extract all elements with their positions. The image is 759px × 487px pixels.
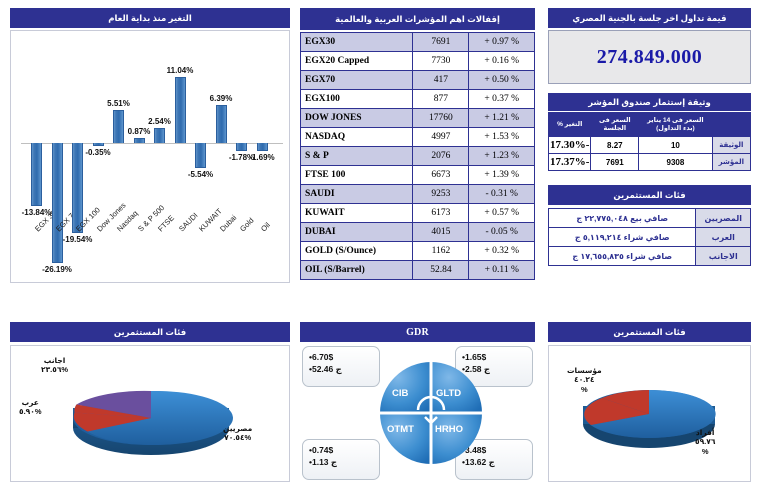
pie-left-label-foreign-pct: %٢٣.٥٦ bbox=[41, 365, 68, 374]
investor-nationality-pie-chart: اجانب %٢٣.٥٦ عرب %٥.٩٠ مصريين %٧٠.٥٤ bbox=[10, 345, 290, 482]
bar bbox=[52, 143, 63, 263]
pie-right-label-individuals-pct: ٥٩.٧٦ bbox=[695, 437, 715, 446]
investor-category-label: المصريين bbox=[696, 209, 751, 228]
index-value: 417 bbox=[413, 71, 469, 90]
turnover-value-box: 274.849.000 bbox=[548, 30, 751, 84]
gdr-quadrant-label-gltd: GLTD bbox=[436, 388, 461, 399]
bar-value-label: -26.19% bbox=[42, 265, 72, 274]
pie-left-label-arab-pct: %٥.٩٠ bbox=[19, 407, 42, 416]
etf-change: -17.37% bbox=[549, 154, 591, 171]
bar-value-label: -19.54% bbox=[63, 235, 93, 244]
gdr-box-cib: •6.70$ •52.46 ج bbox=[302, 346, 380, 387]
index-change: + 1.21 % bbox=[469, 109, 535, 128]
index-name: EGX100 bbox=[301, 90, 413, 109]
index-change: + 0.16 % bbox=[469, 52, 535, 71]
index-change: + 0.50 % bbox=[469, 71, 535, 90]
gdr-cib-egp: •52.46 ج bbox=[309, 363, 379, 375]
bar-value-label: 2.54% bbox=[145, 117, 175, 126]
bar-category-label: SAUDI bbox=[177, 211, 200, 234]
ytd-change-chart: -13.84%EGX 30-26.19%EGX 70-19.54%EGX 100… bbox=[10, 30, 290, 283]
table-row: DOW JONES17760+ 1.21 % bbox=[301, 109, 535, 128]
index-value: 1162 bbox=[413, 242, 469, 261]
investor-category-label: الاجانب bbox=[696, 247, 751, 266]
etf-header-start-price: السعر فى 14 يناير (بدء التداول) bbox=[639, 113, 712, 137]
index-value: 6173 bbox=[413, 204, 469, 223]
index-change: + 1.23 % bbox=[469, 147, 535, 166]
gdr-otmt-egp: •1.13 ج bbox=[309, 456, 379, 468]
index-name: SAUDI bbox=[301, 185, 413, 204]
bar bbox=[134, 138, 145, 143]
table-row: EGX100877+ 0.37 % bbox=[301, 90, 535, 109]
bar bbox=[216, 105, 227, 143]
investor-net-value: صافي بيع ٢٢,٧٧٥,٠٤٨ ج bbox=[549, 209, 696, 228]
bar bbox=[175, 77, 186, 143]
pie-left-label-foreign: اجانب %٢٣.٥٦ bbox=[41, 356, 68, 375]
index-value: 52.84 bbox=[413, 261, 469, 280]
pie-right-label-individuals-sym: % bbox=[702, 447, 709, 456]
investor-category-label: العرب bbox=[696, 228, 751, 247]
bar bbox=[236, 143, 247, 151]
index-name: DUBAI bbox=[301, 223, 413, 242]
bar bbox=[195, 143, 206, 168]
bar-value-label: 0.87% bbox=[124, 127, 154, 136]
table-row: NASDAQ4997+ 1.53 % bbox=[301, 128, 535, 147]
index-change: + 0.97 % bbox=[469, 33, 535, 52]
turnover-title: قيمة تداول اخر جلسة بالجنية المصري bbox=[548, 8, 751, 28]
bar-plot-area: -13.84%EGX 30-26.19%EGX 70-19.54%EGX 100… bbox=[17, 35, 285, 278]
bar-category-label: Oil bbox=[259, 221, 272, 234]
bar-category-label: Gold bbox=[238, 216, 256, 234]
bar-value-label: 11.04% bbox=[165, 66, 195, 75]
bar bbox=[31, 143, 42, 206]
index-value: 7691 bbox=[413, 33, 469, 52]
pie-left-label-egyptian-pct: %٧٠.٥٤ bbox=[224, 433, 251, 442]
etf-start-price: 9308 bbox=[639, 154, 712, 171]
gdr-quadrant-label-otmt: OTMT bbox=[387, 424, 414, 435]
bar-value-label: -5.54% bbox=[186, 170, 216, 179]
index-value: 2076 bbox=[413, 147, 469, 166]
etf-start-price: 10 bbox=[639, 137, 712, 154]
table-row: DUBAI4015- 0.05 % bbox=[301, 223, 535, 242]
table-row: FTSE 1006673+ 1.39 % bbox=[301, 166, 535, 185]
pie-right-label-institutions-name: مؤسسات bbox=[567, 366, 602, 375]
pie-left-label-foreign-name: اجانب bbox=[44, 356, 66, 365]
index-name: EGX20 Capped bbox=[301, 52, 413, 71]
pie-right-label-institutions-pct: ٤٠.٢٤ bbox=[574, 375, 594, 384]
pie-left-label-arab-name: عرب bbox=[22, 398, 39, 407]
investor-net-value: صافي شراء ٥,١١٩,٢١٤ ج bbox=[549, 228, 696, 247]
pie-right-label-institutions-sym: % bbox=[581, 385, 588, 394]
index-name: FTSE 100 bbox=[301, 166, 413, 185]
etf-change: -17.30% bbox=[549, 137, 591, 154]
index-change: + 0.57 % bbox=[469, 204, 535, 223]
table-row: EGX307691+ 0.97 % bbox=[301, 33, 535, 52]
gdr-title: GDR bbox=[300, 322, 535, 342]
bar-value-label: 6.39% bbox=[206, 94, 236, 103]
bar bbox=[154, 128, 165, 143]
index-name: GOLD (S/Ounce) bbox=[301, 242, 413, 261]
bar bbox=[113, 110, 124, 143]
pie-right-label-institutions: مؤسسات ٤٠.٢٤ % bbox=[567, 366, 602, 394]
investor-net-value: صافي شراء ١٧,٦٥٥,٨٣٥ ج bbox=[549, 247, 696, 266]
index-value: 17760 bbox=[413, 109, 469, 128]
turnover-value: 274.849.000 bbox=[597, 46, 703, 69]
table-row: OIL (S/Barrel)52.84+ 0.11 % bbox=[301, 261, 535, 280]
gdr-wheel-svg bbox=[378, 360, 484, 466]
gdr-box-otmt: •0.74$ •1.13 ج bbox=[302, 439, 380, 480]
investor-type-pie-panel: فئات المستثمرين مؤسسات ٤٠.٢٤ bbox=[548, 322, 751, 482]
etf-session-price: 7691 bbox=[591, 154, 639, 171]
bar bbox=[257, 143, 268, 151]
turnover-panel: قيمة تداول اخر جلسة بالجنية المصري 274.8… bbox=[548, 8, 751, 86]
investor-nets-table: المصريينصافي بيع ٢٢,٧٧٥,٠٤٨ جالعربصافي ش… bbox=[548, 208, 751, 266]
ytd-change-panel: التغير منذ بداية العام -13.84%EGX 30-26.… bbox=[10, 8, 290, 283]
etf-table: السعر فى 14 يناير (بدء التداول) السعر فى… bbox=[548, 112, 751, 171]
investor-type-pie-chart: مؤسسات ٤٠.٢٤ % أفراد ٥٩.٧٦ % bbox=[548, 345, 751, 482]
index-change: + 0.37 % bbox=[469, 90, 535, 109]
table-row: EGX70417+ 0.50 % bbox=[301, 71, 535, 90]
table-row: المؤشر93087691-17.37% bbox=[549, 154, 751, 171]
bar-value-label: 5.51% bbox=[104, 99, 134, 108]
index-name: OIL (S/Barrel) bbox=[301, 261, 413, 280]
index-change: - 0.05 % bbox=[469, 223, 535, 242]
investor-nationality-pie-panel: فئات المستثمرين bbox=[10, 322, 290, 482]
index-change: - 0.31 % bbox=[469, 185, 535, 204]
bar-value-label: -1.69% bbox=[247, 153, 277, 162]
pie-left-label-egyptian-name: مصريين bbox=[223, 424, 252, 433]
index-change: + 1.39 % bbox=[469, 166, 535, 185]
indices-table: EGX307691+ 0.97 %EGX20 Capped7730+ 0.16 … bbox=[300, 32, 535, 280]
index-name: S & P bbox=[301, 147, 413, 166]
table-row: EGX20 Capped7730+ 0.16 % bbox=[301, 52, 535, 71]
index-change: + 0.11 % bbox=[469, 261, 535, 280]
index-value: 4997 bbox=[413, 128, 469, 147]
etf-panel: وثيقة إستثمار صندوق المؤشر السعر فى 14 ي… bbox=[548, 93, 751, 178]
investor-nets-panel: فئات المستثمرين المصريينصافي بيع ٢٢,٧٧٥,… bbox=[548, 185, 751, 277]
indices-panel: إقفالات اهم المؤشرات العربية والعالمية E… bbox=[300, 8, 535, 283]
index-value: 877 bbox=[413, 90, 469, 109]
pie-left-label-egyptian: مصريين %٧٠.٥٤ bbox=[223, 424, 252, 443]
index-change: + 1.53 % bbox=[469, 128, 535, 147]
investor-nets-title: فئات المستثمرين bbox=[548, 185, 751, 205]
index-name: EGX30 bbox=[301, 33, 413, 52]
indices-title: إقفالات اهم المؤشرات العربية والعالمية bbox=[300, 8, 535, 30]
gdr-body: •6.70$ •52.46 ج •1.65$ •2.58 ج •0.74$ •1… bbox=[300, 344, 535, 482]
index-value: 6673 bbox=[413, 166, 469, 185]
pie-right-label-individuals: أفراد ٥٩.٧٦ % bbox=[695, 428, 715, 456]
table-row: GOLD (S/Ounce)1162+ 0.32 % bbox=[301, 242, 535, 261]
gdr-panel: GDR •6.70$ •52.46 ج •1.65$ •2.58 ج •0.74… bbox=[300, 322, 535, 482]
index-name: DOW JONES bbox=[301, 109, 413, 128]
investor-nationality-pie-title: فئات المستثمرين bbox=[10, 322, 290, 342]
index-value: 9253 bbox=[413, 185, 469, 204]
index-value: 7730 bbox=[413, 52, 469, 71]
etf-row-label: المؤشر bbox=[712, 154, 750, 171]
table-row: المصريينصافي بيع ٢٢,٧٧٥,٠٤٨ ج bbox=[549, 209, 751, 228]
etf-title: وثيقة إستثمار صندوق المؤشر bbox=[548, 93, 751, 111]
investor-type-pie-title: فئات المستثمرين bbox=[548, 322, 751, 342]
etf-header-blank bbox=[712, 113, 750, 137]
pie-left-label-arab: عرب %٥.٩٠ bbox=[19, 398, 42, 417]
table-row: الاجانبصافي شراء ١٧,٦٥٥,٨٣٥ ج bbox=[549, 247, 751, 266]
table-row: العربصافي شراء ٥,١١٩,٢١٤ ج bbox=[549, 228, 751, 247]
bar-value-label: -0.35% bbox=[83, 148, 113, 157]
index-change: + 0.32 % bbox=[469, 242, 535, 261]
pie-right-label-individuals-name: أفراد bbox=[696, 428, 715, 437]
gdr-wheel-diagram: CIB GLTD OTMT HRHO bbox=[378, 360, 484, 466]
table-row: الوثيقة108.27-17.30% bbox=[549, 137, 751, 154]
etf-header-change: التغير % bbox=[549, 113, 591, 137]
ytd-change-title: التغير منذ بداية العام bbox=[10, 8, 290, 28]
gdr-cib-usd: •6.70$ bbox=[309, 351, 379, 363]
gdr-quadrant-label-cib: CIB bbox=[392, 388, 408, 399]
gdr-quadrant-label-hrho: HRHO bbox=[435, 424, 463, 435]
table-row: S & P2076+ 1.23 % bbox=[301, 147, 535, 166]
index-name: NASDAQ bbox=[301, 128, 413, 147]
index-name: KUWAIT bbox=[301, 204, 413, 223]
table-row: SAUDI9253- 0.31 % bbox=[301, 185, 535, 204]
index-value: 4015 bbox=[413, 223, 469, 242]
bar bbox=[93, 143, 104, 146]
etf-header-row: السعر فى 14 يناير (بدء التداول) السعر فى… bbox=[549, 113, 751, 137]
etf-session-price: 8.27 bbox=[591, 137, 639, 154]
index-name: EGX70 bbox=[301, 71, 413, 90]
gdr-otmt-usd: •0.74$ bbox=[309, 444, 379, 456]
etf-header-session-price: السعر فى الجلسة bbox=[591, 113, 639, 137]
etf-row-label: الوثيقة bbox=[712, 137, 750, 154]
table-row: KUWAIT6173+ 0.57 % bbox=[301, 204, 535, 223]
